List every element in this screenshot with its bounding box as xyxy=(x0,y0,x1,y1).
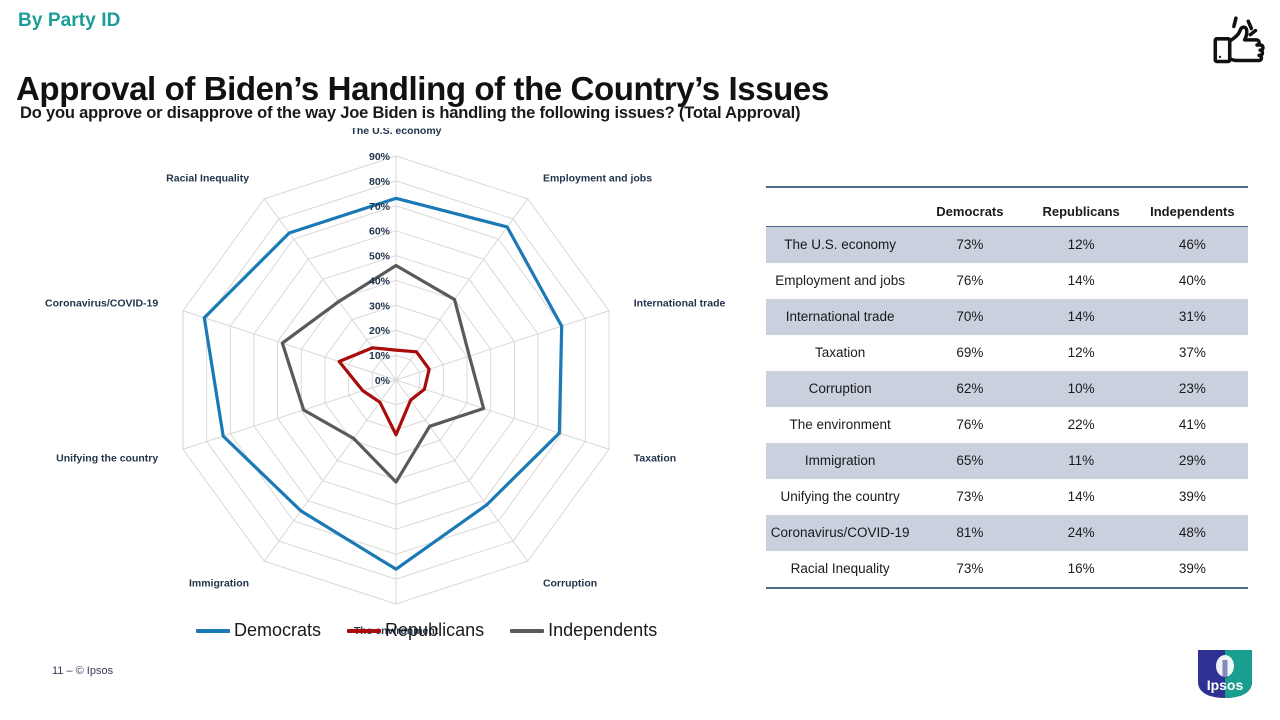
axis-label-international-trade: International trade xyxy=(634,298,726,310)
chart-legend: Democrats Republicans Independents xyxy=(196,620,657,641)
cell-democrats: 65% xyxy=(914,443,1025,479)
cell-democrats: 73% xyxy=(914,479,1025,515)
grid-spoke xyxy=(396,380,528,561)
axis-label-coronavirus-covid-19: Coronavirus/COVID-19 xyxy=(45,298,158,310)
cell-republicans: 12% xyxy=(1026,335,1137,371)
eyebrow-label: By Party ID xyxy=(18,10,120,32)
thumbs-up-icon xyxy=(1206,12,1272,78)
legend-swatch-republicans xyxy=(347,629,381,633)
cell-democrats: 76% xyxy=(914,263,1025,299)
legend-swatch-democrats xyxy=(196,629,230,633)
row-label: Coronavirus/COVID-19 xyxy=(766,515,914,551)
table-header: Democrats Republicans Independents xyxy=(766,187,1248,227)
radial-tick-label: 40% xyxy=(369,275,391,287)
row-label: Unifying the country xyxy=(766,479,914,515)
row-label: The environment xyxy=(766,407,914,443)
cell-democrats: 70% xyxy=(914,299,1025,335)
cell-independents: 48% xyxy=(1137,515,1248,551)
row-label: International trade xyxy=(766,299,914,335)
cell-democrats: 73% xyxy=(914,551,1025,588)
table-row: Immigration65%11%29% xyxy=(766,443,1248,479)
axis-label-corruption: Corruption xyxy=(543,577,597,589)
legend-label-republicans: Republicans xyxy=(385,620,484,641)
table-row: Racial Inequality73%16%39% xyxy=(766,551,1248,588)
radar-tick-labels: 0%10%20%30%40%50%60%70%80%90% xyxy=(369,151,391,387)
legend-swatch-independents xyxy=(510,629,544,633)
cell-republicans: 14% xyxy=(1026,479,1137,515)
ipsos-logo: Ipsos xyxy=(1194,646,1256,702)
legend-label-independents: Independents xyxy=(548,620,657,641)
table-top-rule-cell xyxy=(1026,187,1137,196)
approval-table: Democrats Republicans Independents The U… xyxy=(766,186,1248,589)
table-row: Corruption62%10%23% xyxy=(766,371,1248,407)
column-header-republicans: Republicans xyxy=(1026,196,1137,227)
table-row: The U.S. economy73%12%46% xyxy=(766,227,1248,264)
cell-republicans: 14% xyxy=(1026,299,1137,335)
table-top-rule xyxy=(766,187,1248,196)
legend-item-independents[interactable]: Independents xyxy=(510,620,657,641)
table-row: International trade70%14%31% xyxy=(766,299,1248,335)
radial-tick-label: 50% xyxy=(369,251,391,263)
cell-independents: 41% xyxy=(1137,407,1248,443)
row-label: Racial Inequality xyxy=(766,551,914,588)
table-row: Employment and jobs76%14%40% xyxy=(766,263,1248,299)
radial-tick-label: 30% xyxy=(369,300,391,312)
radar-chart: 0%10%20%30%40%50%60%70%80%90% The U.S. e… xyxy=(20,128,760,658)
cell-independents: 40% xyxy=(1137,263,1248,299)
axis-label-immigration: Immigration xyxy=(189,577,249,589)
row-label: The U.S. economy xyxy=(766,227,914,264)
axis-label-employment-and-jobs: Employment and jobs xyxy=(543,173,652,185)
legend-item-republicans[interactable]: Republicans xyxy=(347,620,484,641)
cell-republicans: 22% xyxy=(1026,407,1137,443)
radial-tick-label: 60% xyxy=(369,226,391,238)
table-top-rule-cell xyxy=(1137,187,1248,196)
cell-independents: 46% xyxy=(1137,227,1248,264)
cell-independents: 39% xyxy=(1137,551,1248,588)
row-label: Corruption xyxy=(766,371,914,407)
radar-gridlines xyxy=(183,156,609,604)
ipsos-logo-text: Ipsos xyxy=(1207,677,1244,693)
row-label: Taxation xyxy=(766,335,914,371)
column-header-democrats: Democrats xyxy=(914,196,1025,227)
radial-tick-label: 90% xyxy=(369,151,391,163)
radial-tick-label: 20% xyxy=(369,325,391,337)
footer-note: 11 – © Ipsos xyxy=(52,665,113,677)
approval-table-container: Democrats Republicans Independents The U… xyxy=(766,186,1248,589)
table-row: The environment76%22%41% xyxy=(766,407,1248,443)
radial-tick-label: 70% xyxy=(369,201,391,213)
cell-republicans: 16% xyxy=(1026,551,1137,588)
cell-independents: 31% xyxy=(1137,299,1248,335)
radial-tick-label: 0% xyxy=(375,375,391,387)
column-header-issue xyxy=(766,196,914,227)
cell-democrats: 69% xyxy=(914,335,1025,371)
cell-republicans: 11% xyxy=(1026,443,1137,479)
row-label: Employment and jobs xyxy=(766,263,914,299)
radial-tick-label: 80% xyxy=(369,176,391,188)
axis-label-racial-inequality: Racial Inequality xyxy=(166,173,249,185)
table-top-rule-cell xyxy=(914,187,1025,196)
column-header-independents: Independents xyxy=(1137,196,1248,227)
radar-chart-svg: 0%10%20%30%40%50%60%70%80%90% The U.S. e… xyxy=(20,128,760,658)
cell-republicans: 10% xyxy=(1026,371,1137,407)
cell-democrats: 73% xyxy=(914,227,1025,264)
cell-independents: 37% xyxy=(1137,335,1248,371)
page-subtitle: Do you approve or disapprove of the way … xyxy=(20,104,800,123)
page-title: Approval of Biden’s Handling of the Coun… xyxy=(16,70,829,108)
cell-republicans: 24% xyxy=(1026,515,1137,551)
table-row: Taxation69%12%37% xyxy=(766,335,1248,371)
axis-label-the-u-s-economy: The U.S. economy xyxy=(350,128,441,137)
table-header-row: Democrats Republicans Independents xyxy=(766,196,1248,227)
table-row: Coronavirus/COVID-1981%24%48% xyxy=(766,515,1248,551)
table-row: Unifying the country73%14%39% xyxy=(766,479,1248,515)
axis-label-unifying-the-country: Unifying the country xyxy=(56,452,158,464)
cell-independents: 29% xyxy=(1137,443,1248,479)
grid-spoke xyxy=(264,380,396,561)
row-label: Immigration xyxy=(766,443,914,479)
series-independents xyxy=(282,266,483,483)
cell-independents: 23% xyxy=(1137,371,1248,407)
legend-item-democrats[interactable]: Democrats xyxy=(196,620,321,641)
cell-democrats: 62% xyxy=(914,371,1025,407)
cell-democrats: 81% xyxy=(914,515,1025,551)
cell-independents: 39% xyxy=(1137,479,1248,515)
table-body: The U.S. economy73%12%46%Employment and … xyxy=(766,227,1248,589)
legend-label-democrats: Democrats xyxy=(234,620,321,641)
table-top-rule-cell xyxy=(766,187,914,196)
grid-spoke xyxy=(396,380,609,449)
cell-republicans: 14% xyxy=(1026,263,1137,299)
axis-label-taxation: Taxation xyxy=(634,452,676,464)
cell-democrats: 76% xyxy=(914,407,1025,443)
radial-tick-label: 10% xyxy=(369,350,391,362)
cell-republicans: 12% xyxy=(1026,227,1137,264)
